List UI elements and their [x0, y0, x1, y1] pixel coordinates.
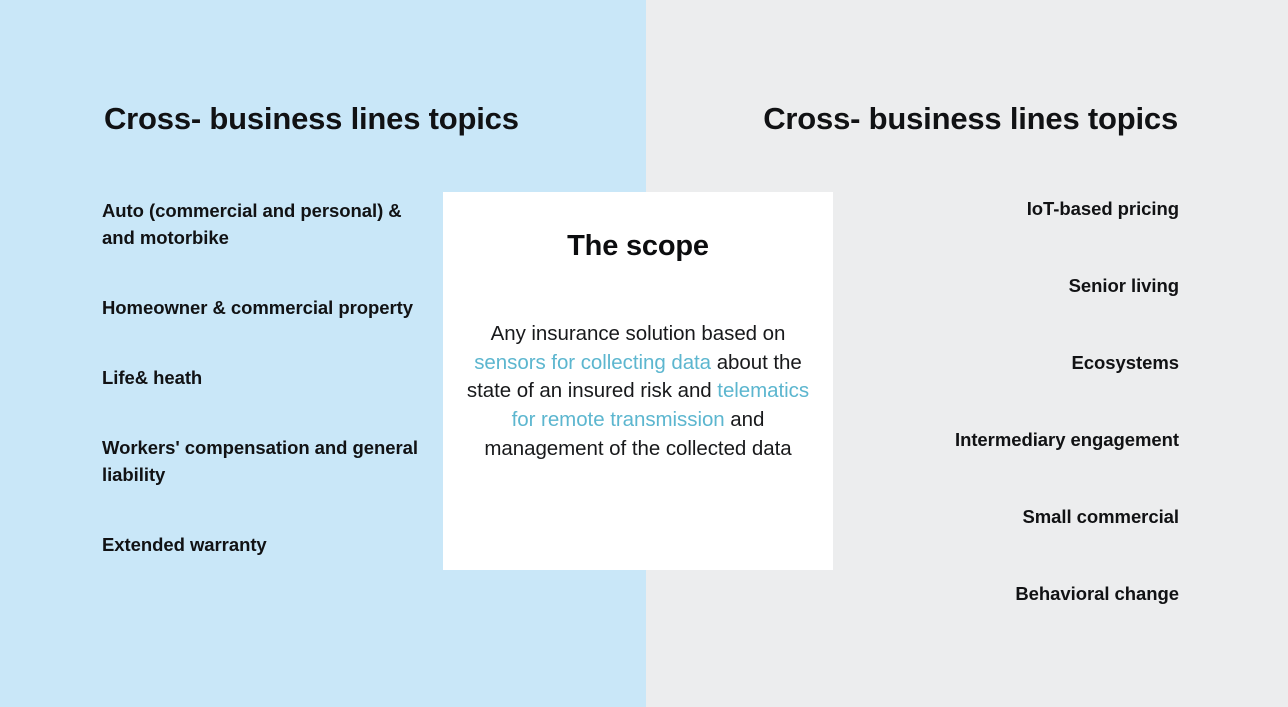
right-column-heading: Cross- business lines topics — [763, 100, 1178, 137]
left-topic-list: Auto (commercial and personal) & and mot… — [102, 197, 422, 558]
list-item: Workers' compensation and general liabil… — [102, 434, 422, 488]
left-column-heading: Cross- business lines topics — [104, 100, 519, 137]
list-item: Extended warranty — [102, 531, 422, 558]
scope-body-text: Any insurance solution based on — [491, 322, 786, 345]
list-item: Behavioral change — [749, 580, 1179, 607]
scope-card: The scope Any insurance solution based o… — [443, 192, 833, 570]
list-item: Homeowner & commercial property — [102, 294, 422, 321]
scope-body-highlight: sensors for collecting data — [474, 351, 711, 374]
slide-canvas: Cross- business lines topics Auto (comme… — [0, 0, 1288, 707]
list-item: Auto (commercial and personal) & and mot… — [102, 197, 422, 251]
scope-card-title: The scope — [443, 230, 833, 263]
scope-card-body: Any insurance solution based on sensors … — [465, 320, 811, 464]
list-item: Life& heath — [102, 364, 422, 391]
